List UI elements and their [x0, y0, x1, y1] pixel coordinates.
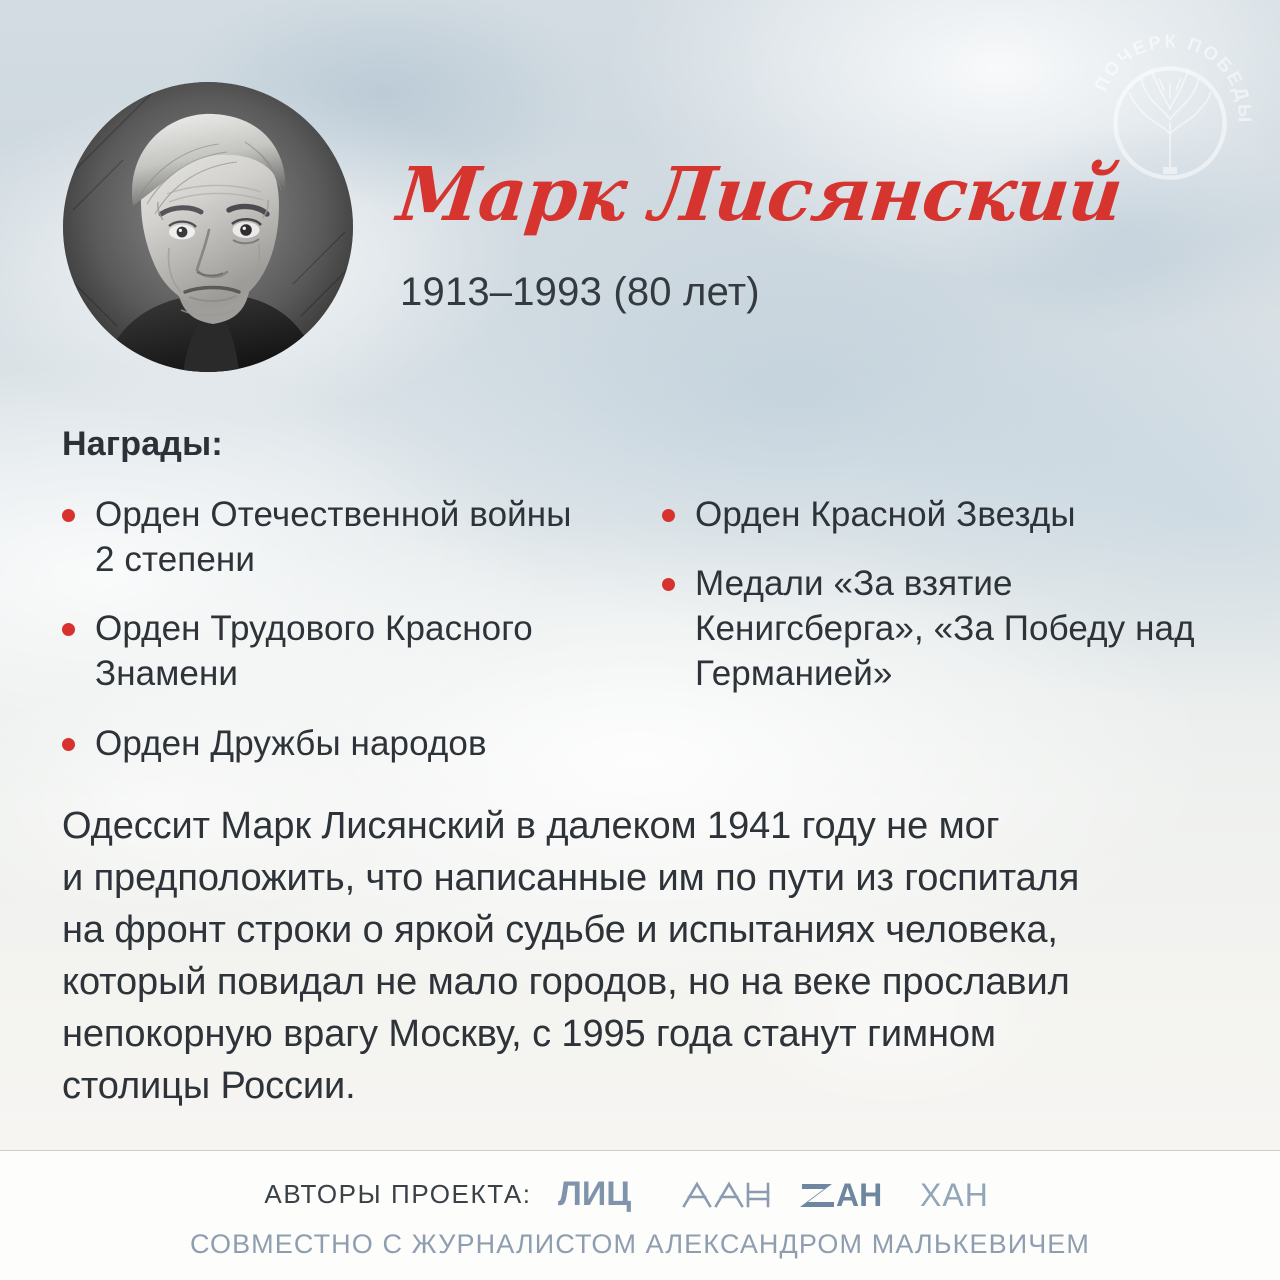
paragraph-line: который повидал не мало городов, но на в…	[62, 956, 1242, 1008]
award-label: Медали «За взятие Кенигсберга», «За Побе…	[695, 561, 1222, 696]
bullet-icon	[62, 623, 75, 636]
awards-columns: Орден Отечественной войны 2 степени Орде…	[62, 492, 1222, 790]
awards-column-right: Орден Красной Звезды Медали «За взятие К…	[642, 492, 1222, 790]
award-label: Орден Отечественной войны 2 степени	[95, 492, 595, 582]
award-item: Орден Трудового Красного Знамени	[62, 606, 642, 696]
award-label: Орден Красной Звезды	[695, 492, 1076, 537]
xan-logo: ХАН	[920, 1175, 1016, 1213]
svg-text:ХАН: ХАН	[920, 1177, 989, 1213]
lic-logo: ЛИЦ	[558, 1175, 654, 1213]
authors-label: АВТОРЫ ПРОЕКТА:	[264, 1179, 531, 1210]
awards-column-left: Орден Отечественной войны 2 степени Орде…	[62, 492, 642, 790]
awards-heading: Награды:	[62, 425, 223, 464]
bullet-icon	[662, 509, 675, 522]
authors-row: АВТОРЫ ПРОЕКТА: ЛИЦ	[0, 1175, 1280, 1213]
paragraph-line: столицы России.	[62, 1060, 1242, 1112]
award-label: Орден Трудового Красного Знамени	[95, 606, 595, 696]
paragraph-line: Одессит Марк Лисянский в далеком 1941 го…	[62, 800, 1242, 852]
award-item: Орден Красной Звезды	[662, 492, 1222, 537]
dan-logo	[680, 1175, 772, 1213]
svg-text:АН: АН	[836, 1177, 882, 1213]
award-item: Орден Отечественной войны 2 степени	[62, 492, 642, 582]
page-title: Марк Лисянский	[394, 158, 1125, 232]
biography-paragraph: Одессит Марк Лисянский в далеком 1941 го…	[62, 800, 1242, 1112]
bullet-icon	[662, 578, 675, 591]
award-item: Орден Дружбы народов	[62, 721, 642, 766]
paragraph-line: и предположить, что написанные им по пут…	[62, 852, 1242, 904]
mark-lisyansky-portrait	[63, 82, 353, 372]
svg-text:ЛИЦ: ЛИЦ	[558, 1175, 631, 1213]
collaboration-note: СОВМЕСТНО С ЖУРНАЛИСТОМ АЛЕКСАНДРОМ МАЛЬ…	[0, 1229, 1280, 1260]
award-item: Медали «За взятие Кенигсберга», «За Побе…	[662, 561, 1222, 696]
footer: АВТОРЫ ПРОЕКТА: ЛИЦ	[0, 1151, 1280, 1280]
paragraph-line: непокорную врагу Москву, с 1995 года ста…	[62, 1008, 1242, 1060]
bullet-icon	[62, 738, 75, 751]
bullet-icon	[62, 509, 75, 522]
zan-logo: АН	[798, 1175, 894, 1213]
award-label: Орден Дружбы народов	[95, 721, 487, 766]
paragraph-line: на фронт строки о яркой судьбе и испытан…	[62, 904, 1242, 956]
infographic-card: ПОЧЕРК ПОБЕДЫ	[0, 0, 1280, 1280]
life-dates: 1913–1993 (80 лет)	[400, 270, 760, 315]
